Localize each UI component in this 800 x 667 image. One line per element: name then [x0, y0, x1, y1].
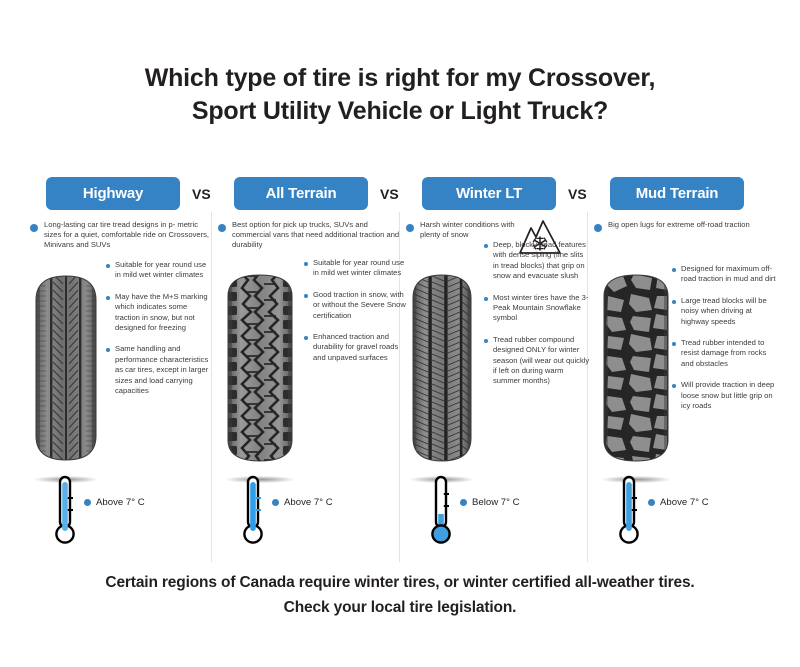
bullet-dot-icon — [304, 336, 308, 340]
bullet-dot-icon — [30, 224, 38, 232]
bullet-dot-icon — [672, 384, 676, 388]
temperature-label-highway: Above 7° C — [84, 497, 145, 508]
bullet-text: Tread rubber compound designed ONLY for … — [493, 335, 590, 387]
temperature-label-all-terrain: Above 7° C — [272, 497, 333, 508]
column-header-winter-lt: Winter LT VS — [400, 172, 588, 214]
bullet-dot-icon — [106, 296, 110, 300]
bullet-dot-icon — [594, 224, 602, 232]
list-item: Good traction in snow, with or without t… — [304, 290, 408, 321]
lead-bullet-text: Long-lasting car tire tread designs in p… — [44, 220, 212, 251]
thermometer-high-icon — [240, 474, 266, 546]
thermometer-high-icon — [616, 474, 642, 546]
bullet-text: Designed for maximum off-road traction i… — [681, 264, 780, 285]
bullet-dot-icon — [460, 499, 467, 506]
temperature-row-all-terrain: Above 7° C — [212, 474, 400, 546]
vs-label-3: VS — [568, 186, 587, 202]
bullet-dot-icon — [304, 262, 308, 266]
column-highway: Highway VS Long-lasting car tire tread d… — [24, 172, 212, 562]
tire-image-winter-lt — [404, 270, 480, 485]
bullet-list-all-terrain: Suitable for year round use in mild wet … — [304, 258, 408, 374]
column-header-all-terrain: All Terrain VS — [212, 172, 400, 214]
list-item: Enhanced traction and durability for gra… — [304, 332, 408, 363]
thermometer-low-icon — [428, 474, 454, 546]
tire-type-pill-mud-terrain[interactable]: Mud Terrain — [610, 177, 744, 210]
bullet-text: Will provide traction in deep loose snow… — [681, 380, 780, 411]
temperature-row-winter-lt: Below 7° C — [400, 474, 588, 546]
bullet-dot-icon — [672, 268, 676, 272]
tire-comparison-columns: Highway VS Long-lasting car tire tread d… — [24, 172, 776, 562]
list-item: Same handling and performance characteri… — [106, 344, 210, 396]
vs-label-2: VS — [380, 186, 399, 202]
all-terrain-tire-icon — [218, 270, 302, 466]
bullet-text: May have the M+S marking which indicates… — [115, 292, 210, 334]
thermometer-high-icon — [52, 474, 78, 546]
highway-tire-icon — [28, 270, 104, 466]
bullet-dot-icon — [218, 224, 226, 232]
tire-image-mud-terrain — [594, 270, 678, 485]
lead-bullet-text: Best option for pick up trucks, SUVs and… — [232, 220, 400, 251]
bullet-text: Deep, blocky tread features with dense s… — [493, 240, 590, 282]
bullet-dot-icon — [106, 348, 110, 352]
winter-tire-icon — [404, 270, 480, 466]
lead-bullet-text: Big open lugs for extreme off-road tract… — [608, 220, 750, 232]
bullet-dot-icon — [672, 300, 676, 304]
bullet-list-mud-terrain: Designed for maximum off-road traction i… — [672, 264, 780, 422]
bullet-text: Suitable for year round use in mild wet … — [313, 258, 408, 279]
temperature-text: Above 7° C — [660, 497, 709, 508]
temperature-text: Above 7° C — [284, 497, 333, 508]
bullet-text: Enhanced traction and durability for gra… — [313, 332, 408, 363]
bullet-dot-icon — [106, 264, 110, 268]
list-item: Most winter tires have the 3-Peak Mounta… — [484, 293, 590, 324]
page-title-line-2: Sport Utility Vehicle or Light Truck? — [0, 95, 800, 128]
lead-bullet-mud-terrain: Big open lugs for extreme off-road tract… — [594, 220, 776, 232]
bullet-dot-icon — [648, 499, 655, 506]
bullet-text: Good traction in snow, with or without t… — [313, 290, 408, 321]
temperature-label-winter-lt: Below 7° C — [460, 497, 520, 508]
list-item: Designed for maximum off-road traction i… — [672, 264, 780, 285]
column-all-terrain: All Terrain VS Best option for pick up t… — [212, 172, 400, 562]
footer-line-2: Check your local tire legislation. — [0, 595, 800, 620]
column-winter-lt: Winter LT VS Harsh winter conditions wit… — [400, 172, 588, 562]
bullet-dot-icon — [84, 499, 91, 506]
page-title: Which type of tire is right for my Cross… — [0, 62, 800, 128]
bullet-list-winter-lt: Deep, blocky tread features with dense s… — [484, 240, 590, 398]
bullet-dot-icon — [484, 339, 488, 343]
vs-label-1: VS — [192, 186, 211, 202]
list-item: Large tread blocks will be noisy when dr… — [672, 296, 780, 327]
tire-image-all-terrain — [218, 270, 302, 485]
infographic-page: Which type of tire is right for my Cross… — [0, 0, 800, 667]
list-item: Suitable for year round use in mild wet … — [106, 260, 210, 281]
bullet-dot-icon — [406, 224, 414, 232]
lead-bullet-all-terrain: Best option for pick up trucks, SUVs and… — [218, 220, 400, 251]
bullet-list-highway: Suitable for year round use in mild wet … — [106, 260, 210, 407]
temperature-text: Above 7° C — [96, 497, 145, 508]
bullet-text: Same handling and performance characteri… — [115, 344, 210, 396]
list-item: May have the M+S marking which indicates… — [106, 292, 210, 334]
bullet-dot-icon — [672, 342, 676, 346]
temperature-text: Below 7° C — [472, 497, 520, 508]
footer-note: Certain regions of Canada require winter… — [0, 570, 800, 620]
mud-terrain-tire-icon — [594, 270, 678, 466]
tire-type-pill-highway[interactable]: Highway — [46, 177, 180, 210]
lead-bullet-winter-lt: Harsh winter conditions with plenty of s… — [406, 220, 522, 240]
temperature-row-highway: Above 7° C — [24, 474, 212, 546]
column-header-mud-terrain: Mud Terrain — [588, 172, 776, 214]
column-mud-terrain: Mud Terrain Big open lugs for extreme of… — [588, 172, 776, 562]
list-item: Suitable for year round use in mild wet … — [304, 258, 408, 279]
bullet-text: Suitable for year round use in mild wet … — [115, 260, 210, 281]
bullet-text: Most winter tires have the 3-Peak Mounta… — [493, 293, 590, 324]
bullet-dot-icon — [272, 499, 279, 506]
bullet-text: Tread rubber intended to resist damage f… — [681, 338, 780, 369]
page-title-line-1: Which type of tire is right for my Cross… — [145, 64, 656, 92]
bullet-dot-icon — [484, 297, 488, 301]
list-item: Tread rubber intended to resist damage f… — [672, 338, 780, 369]
bullet-text: Large tread blocks will be noisy when dr… — [681, 296, 780, 327]
footer-line-1: Certain regions of Canada require winter… — [105, 574, 694, 591]
tire-type-pill-winter-lt[interactable]: Winter LT — [422, 177, 556, 210]
bullet-dot-icon — [484, 244, 488, 248]
column-header-highway: Highway VS — [24, 172, 212, 214]
bullet-dot-icon — [304, 294, 308, 298]
temperature-row-mud-terrain: Above 7° C — [588, 474, 776, 546]
tire-type-pill-all-terrain[interactable]: All Terrain — [234, 177, 368, 210]
tire-image-highway — [28, 270, 104, 485]
list-item: Deep, blocky tread features with dense s… — [484, 240, 590, 282]
temperature-label-mud-terrain: Above 7° C — [648, 497, 709, 508]
lead-bullet-text: Harsh winter conditions with plenty of s… — [420, 220, 522, 240]
lead-bullet-highway: Long-lasting car tire tread designs in p… — [30, 220, 212, 251]
list-item: Will provide traction in deep loose snow… — [672, 380, 780, 411]
list-item: Tread rubber compound designed ONLY for … — [484, 335, 590, 387]
